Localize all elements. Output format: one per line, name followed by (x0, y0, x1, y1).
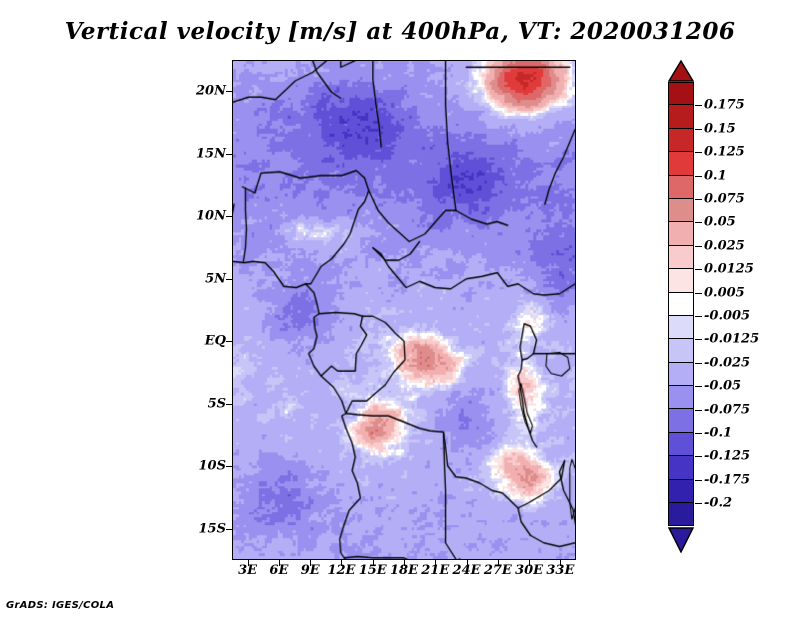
colorbar-arrow-top (668, 60, 694, 82)
y-axis-tick (226, 341, 233, 342)
y-axis-tick (226, 279, 233, 280)
x-axis-tick (560, 560, 561, 566)
colorbar-tick (695, 456, 702, 457)
colorbar-band (668, 480, 694, 503)
colorbar-band (668, 363, 694, 386)
colorbar-tick-label: -0.175 (704, 472, 750, 487)
colorbar-tick-label: -0.025 (704, 355, 750, 370)
colorbar: 0.1750.150.1250.10.0750.050.0250.01250.0… (668, 60, 798, 565)
colorbar-band (668, 456, 694, 479)
colorbar-tick-label: 0.1 (704, 168, 727, 183)
y-axis-tick (226, 91, 233, 92)
y-axis-labels: 20N15N10N5NEQ5S10S15S (182, 60, 226, 560)
colorbar-tick-label: 0.0125 (704, 262, 754, 277)
x-axis-tick (435, 560, 436, 566)
x-axis-tick (404, 560, 405, 566)
colorbar-tick-label: 0.05 (704, 215, 736, 230)
colorbar-band (668, 152, 694, 175)
colorbar-band (668, 293, 694, 316)
x-axis-tick (341, 560, 342, 566)
colorbar-tick-label: -0.05 (704, 379, 741, 394)
colorbar-tick (695, 410, 702, 411)
colorbar-tick-label: 0.025 (704, 238, 745, 253)
colorbar-tick (695, 246, 702, 247)
colorbar-tick (695, 339, 702, 340)
y-axis-tick-label: 10S (199, 459, 226, 474)
colorbar-bands (668, 82, 694, 526)
colorbar-tick-label: -0.125 (704, 449, 750, 464)
colorbar-tick (695, 503, 702, 504)
colorbar-tick-label: 0.125 (704, 145, 745, 160)
colorbar-tick (695, 222, 702, 223)
colorbar-band (668, 176, 694, 199)
colorbar-band (668, 409, 694, 432)
page-title: Vertical velocity [m/s] at 400hPa, VT: 2… (0, 18, 800, 45)
x-axis-tick (498, 560, 499, 566)
colorbar-band (668, 222, 694, 245)
y-axis-tick (226, 529, 233, 530)
colorbar-tick-label: -0.0125 (704, 332, 759, 347)
x-axis-labels: 3E6E9E12E15E18E21E24E27E30E33E (232, 563, 576, 583)
x-axis-tick (467, 560, 468, 566)
y-axis-tick (226, 404, 233, 405)
y-axis-tick-label: 15N (196, 146, 226, 161)
colorbar-tick (695, 480, 702, 481)
map-plot-area (232, 60, 576, 560)
x-axis-tick (248, 560, 249, 566)
footer-credit: GrADS: IGES/COLA (6, 600, 114, 611)
colorbar-band (668, 199, 694, 222)
colorbar-tick (695, 105, 702, 106)
x-axis-tick (279, 560, 280, 566)
colorbar-tick (695, 199, 702, 200)
colorbar-band (668, 246, 694, 269)
colorbar-tick (695, 176, 702, 177)
colorbar-tick (695, 129, 702, 130)
colorbar-tick (695, 386, 702, 387)
colorbar-tick-label: -0.2 (704, 496, 732, 511)
colorbar-band (668, 316, 694, 339)
colorbar-tick-label: -0.1 (704, 426, 732, 441)
y-axis-tick (226, 466, 233, 467)
colorbar-tick (695, 293, 702, 294)
colorbar-tick (695, 316, 702, 317)
y-axis-tick (226, 154, 233, 155)
y-axis-tick-label: EQ (205, 334, 226, 349)
y-axis-tick (226, 216, 233, 217)
chart-page: Vertical velocity [m/s] at 400hPa, VT: 2… (0, 0, 800, 618)
colorbar-band (668, 129, 694, 152)
y-axis-tick-label: 15S (199, 521, 226, 536)
y-axis-tick-label: 20N (196, 84, 226, 99)
colorbar-band (668, 82, 694, 105)
colorbar-tick-label: 0.175 (704, 98, 745, 113)
colorbar-tick (695, 152, 702, 153)
colorbar-tick-label: 0.075 (704, 192, 745, 207)
colorbar-tick (695, 433, 702, 434)
country-borders-overlay (233, 61, 575, 559)
colorbar-tick (695, 363, 702, 364)
colorbar-band (668, 105, 694, 128)
colorbar-band (668, 503, 694, 526)
y-axis-tick-label: 5S (208, 396, 226, 411)
colorbar-tick-label: 0.15 (704, 121, 736, 136)
y-axis-tick-label: 10N (196, 209, 226, 224)
x-axis-tick (373, 560, 374, 566)
colorbar-band (668, 386, 694, 409)
colorbar-arrow-bottom (668, 527, 694, 553)
colorbar-tick-label: -0.075 (704, 402, 750, 417)
x-axis-tick (310, 560, 311, 566)
x-axis-tick (529, 560, 530, 566)
colorbar-band (668, 339, 694, 362)
colorbar-band (668, 433, 694, 456)
y-axis-tick-label: 5N (205, 271, 226, 286)
colorbar-band (668, 269, 694, 292)
colorbar-tick-label: -0.005 (704, 309, 750, 324)
colorbar-tick (695, 269, 702, 270)
colorbar-tick-label: 0.005 (704, 285, 745, 300)
